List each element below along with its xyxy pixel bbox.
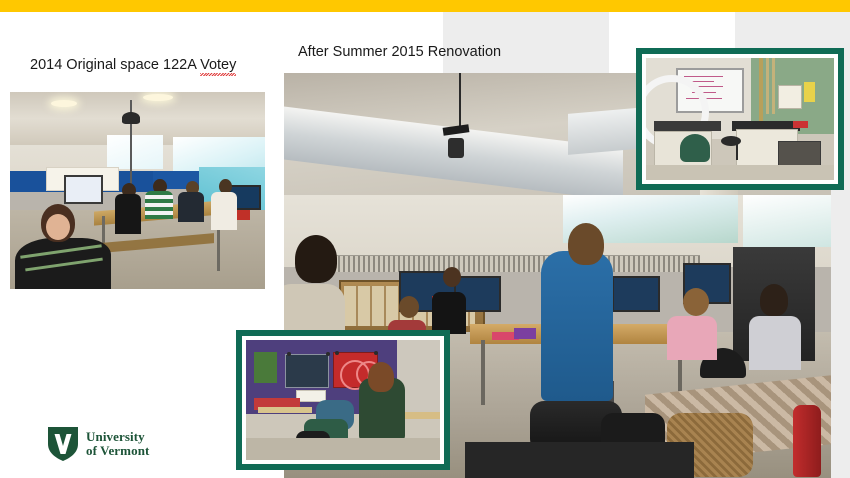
person-body (178, 192, 204, 222)
inset-image (246, 340, 440, 460)
wall-poster (778, 85, 803, 109)
stool-leg (736, 141, 738, 161)
red-container (793, 121, 808, 127)
ceiling-light (51, 100, 77, 107)
lab-room-inset-photo (636, 48, 844, 190)
projector-cord (459, 73, 461, 130)
green-chair (680, 134, 710, 162)
student-at-bench-inset-photo (236, 330, 450, 470)
foreground-person-blue-shirt (541, 251, 613, 401)
person-body (115, 194, 141, 234)
person-body (749, 316, 801, 370)
wall-vent (328, 255, 700, 272)
caption-before: 2014 Original space 122A Votey (30, 57, 236, 74)
person-body (667, 316, 717, 360)
person-head (368, 362, 394, 392)
pipe (759, 58, 763, 121)
inset-mat (642, 54, 838, 184)
foreground-person-head (295, 235, 337, 283)
caption-before-text: 2014 Original space 122A (30, 57, 200, 73)
hanging-fixture (122, 112, 140, 124)
university-of-vermont-logo: University of Vermont (48, 427, 149, 461)
person-head (443, 267, 461, 287)
uvm-logo-text: University of Vermont (86, 430, 149, 458)
wall-plant-poster (254, 352, 277, 383)
dark-table-foreground (465, 442, 695, 478)
slide-canvas: 2014 Original space 122A Votey After Sum… (0, 0, 850, 478)
caption-after: After Summer 2015 Renovation (298, 44, 501, 61)
fire-extinguisher (793, 405, 821, 477)
floor (246, 438, 440, 460)
person-body (432, 292, 466, 334)
caption-before-misspelled-word: Votey (200, 57, 236, 74)
table-item-purple (514, 328, 536, 339)
before-photo (10, 92, 265, 289)
inset-mat (242, 336, 444, 464)
foreground-person-head (568, 223, 604, 265)
top-accent-bar (0, 0, 850, 12)
uvm-logo-line2: of Vermont (86, 444, 149, 458)
black-benchtop (654, 121, 722, 131)
dark-poster (285, 354, 330, 387)
monitor (612, 276, 660, 312)
hanging-projector (448, 138, 464, 158)
monitor (64, 175, 104, 205)
window (107, 135, 163, 168)
person-body (145, 191, 173, 219)
inset-image (646, 58, 834, 180)
person-head (760, 284, 788, 316)
pipe (766, 58, 769, 114)
uvm-shield-icon (48, 427, 78, 461)
foreground-person-face (46, 214, 70, 240)
person-head (219, 179, 232, 194)
table-leg (481, 340, 485, 405)
person-head (683, 288, 709, 316)
worktable (258, 407, 312, 413)
pipe (772, 58, 775, 114)
person-body (211, 192, 237, 230)
floor (646, 165, 834, 180)
uvm-logo-line1: University (86, 430, 149, 444)
ceiling-light (143, 94, 173, 101)
person-head (399, 296, 419, 318)
window (743, 195, 831, 248)
yellow-sign (804, 82, 815, 102)
